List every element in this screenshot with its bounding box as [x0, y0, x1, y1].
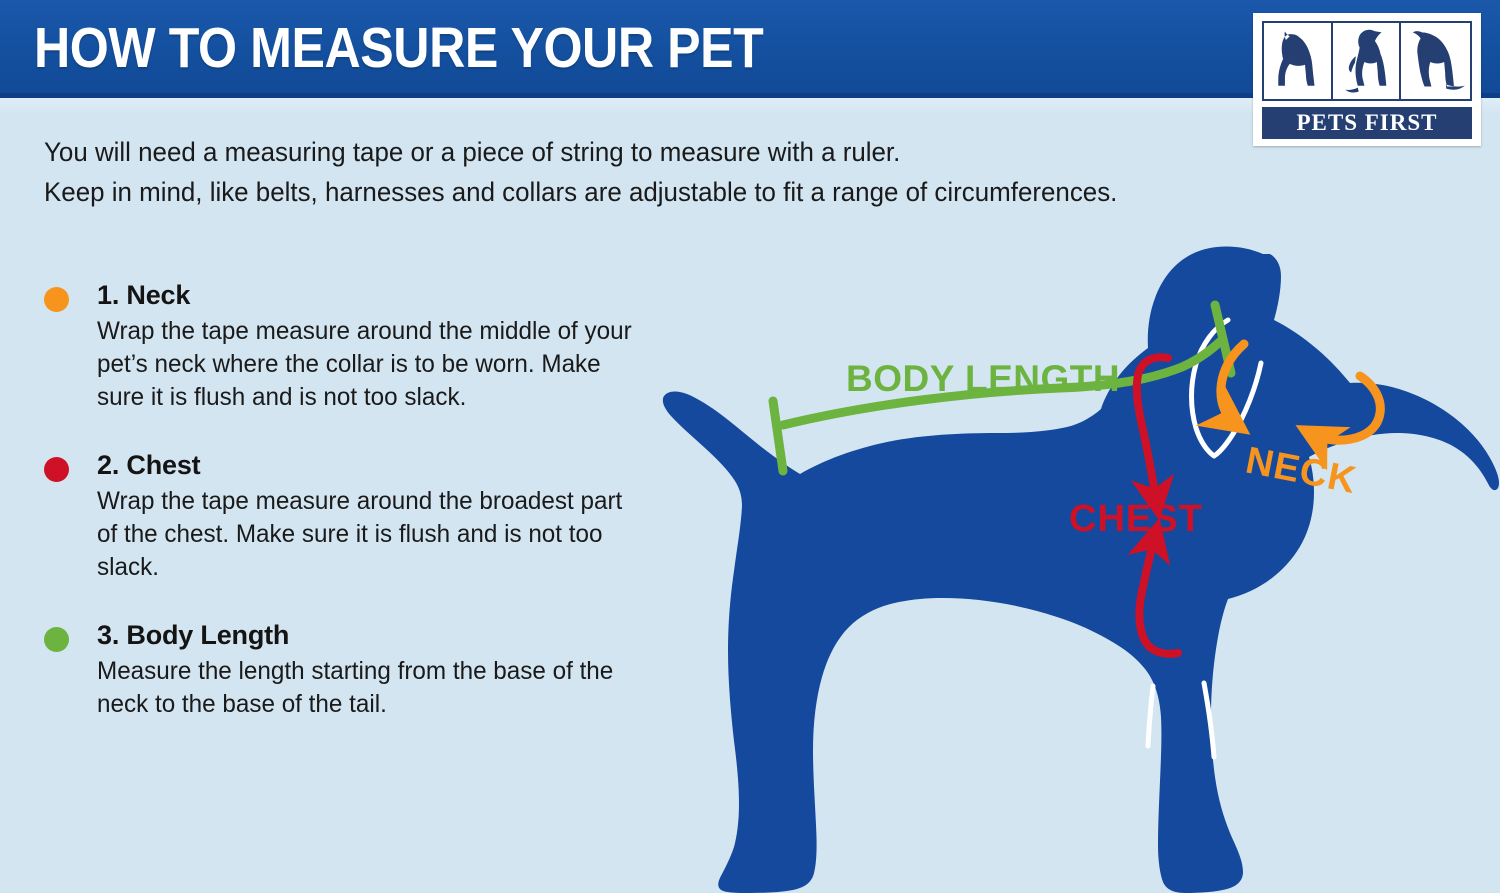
bullet-neck-icon [44, 287, 69, 312]
logo-wordmark: PETS FIRST [1262, 107, 1472, 139]
pets-first-logo: PETS FIRST [1253, 13, 1481, 146]
dog-silhouette [663, 247, 1499, 893]
intro-paragraph: You will need a measuring tape or a piec… [44, 132, 1282, 212]
chest-label: CHEST [1069, 498, 1203, 540]
step-desc-chest: Wrap the tape measure around the broades… [97, 485, 647, 584]
step-title-chest: 2. Chest [97, 448, 664, 482]
infographic-page: HOW TO MEASURE YOUR PET PETS FIRST Y [0, 0, 1500, 893]
dog-sitting-profile-silhouette-icon [1401, 23, 1470, 99]
intro-line-1: You will need a measuring tape or a piec… [44, 132, 1282, 172]
step-item-body-length: 3. Body Length Measure the length starti… [44, 618, 664, 721]
bullet-body-length-icon [44, 627, 69, 652]
measurement-steps-list: 1. Neck Wrap the tape measure around the… [44, 278, 664, 755]
page-title: HOW TO MEASURE YOUR PET [34, 17, 763, 79]
dog-measurement-diagram: BODY LENGTH NECK CHEST [640, 236, 1500, 893]
body-length-label: BODY LENGTH [846, 358, 1120, 399]
dog-howling-silhouette-icon [1333, 23, 1402, 99]
step-title-neck: 1. Neck [97, 278, 664, 312]
step-desc-neck: Wrap the tape measure around the middle … [97, 315, 647, 414]
bullet-chest-icon [44, 457, 69, 482]
step-item-chest: 2. Chest Wrap the tape measure around th… [44, 448, 664, 584]
dog-sitting-silhouette-icon [1264, 23, 1333, 99]
step-desc-body-length: Measure the length starting from the bas… [97, 655, 647, 721]
logo-icon-frames [1262, 21, 1472, 101]
step-item-neck: 1. Neck Wrap the tape measure around the… [44, 278, 664, 414]
step-title-body-length: 3. Body Length [97, 618, 664, 652]
intro-line-2: Keep in mind, like belts, harnesses and … [44, 172, 1282, 212]
